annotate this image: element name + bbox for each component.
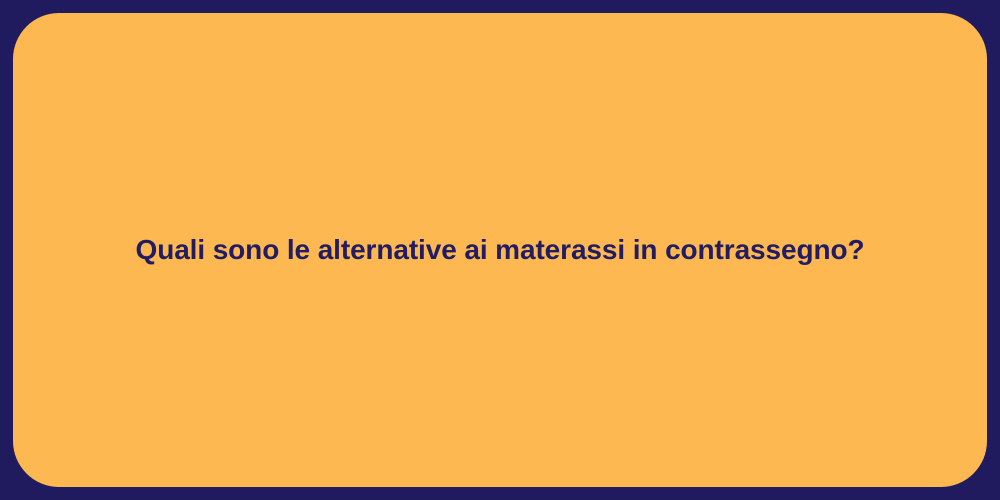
page-frame: Quali sono le alternative ai materassi i… — [0, 0, 1000, 500]
question-card: Quali sono le alternative ai materassi i… — [13, 13, 987, 487]
page-title: Quali sono le alternative ai materassi i… — [136, 231, 865, 269]
